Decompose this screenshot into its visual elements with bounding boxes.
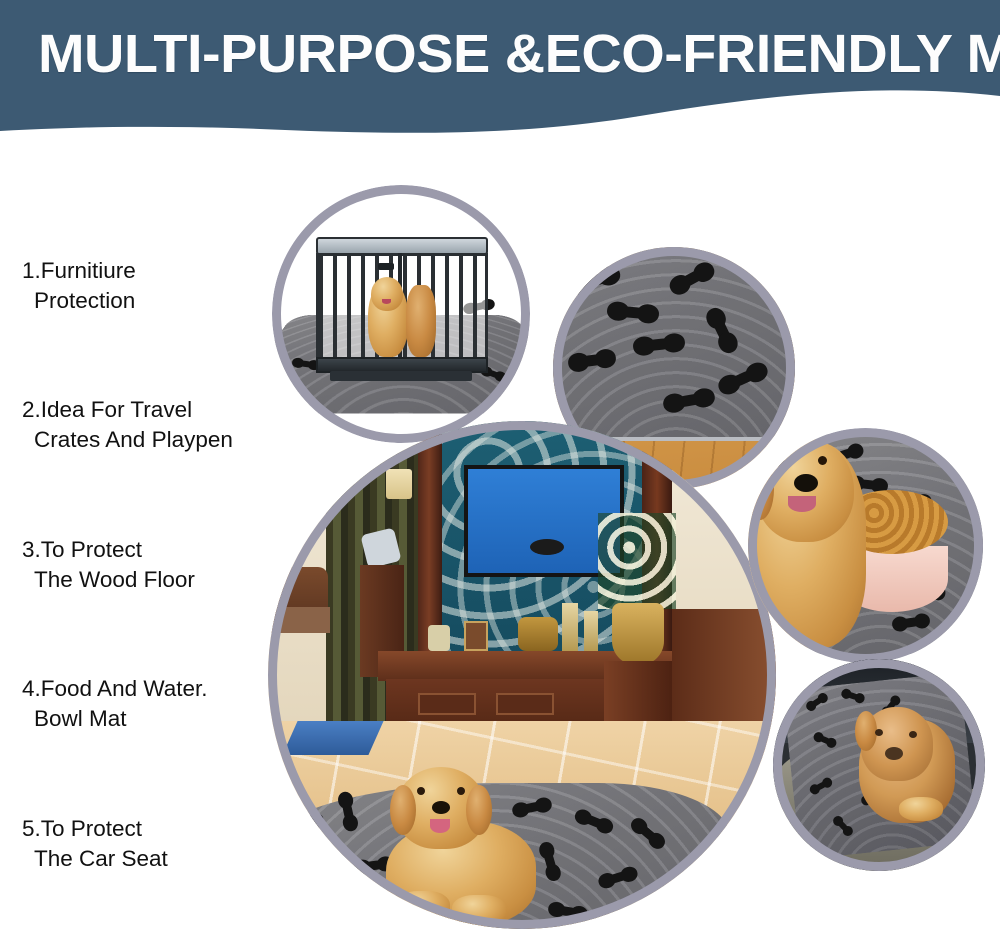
retriever-eye: [457, 787, 465, 795]
feature-3-line2: The Wood Floor: [22, 565, 290, 595]
feature-item-3: 3.To Protect The Wood Floor: [22, 535, 290, 595]
crate-dog-tongue: [382, 299, 391, 304]
retriever-eye: [417, 787, 425, 795]
feature-4-line2: Bowl Mat: [22, 704, 290, 734]
gold-vase: [612, 603, 664, 665]
living-room-canvas: [268, 421, 776, 929]
blue-rug: [282, 721, 383, 755]
feature-item-4: 4.Food And Water. Bowl Mat: [22, 674, 290, 734]
bone-shape: [360, 859, 389, 872]
bowl-dog-eye: [818, 456, 827, 465]
photo-crate: [272, 185, 530, 443]
retriever-paw: [396, 891, 450, 925]
console-bowl: [518, 617, 558, 651]
photo-collage: [258, 185, 1000, 946]
photo-car-seat: [773, 659, 985, 871]
feature-5-line1: 5.To Protect: [22, 816, 142, 841]
puppy-nose: [885, 747, 903, 760]
feature-item-5: 5.To Protect The Car Seat: [22, 814, 290, 874]
console-drawer: [496, 693, 554, 715]
feature-2-line2: Crates And Playpen: [22, 425, 290, 455]
wall-lamp: [386, 469, 412, 499]
feature-item-2: 2.Idea For Travel Crates And Playpen: [22, 395, 290, 455]
retriever-nose: [432, 801, 450, 814]
bone-shape: [615, 305, 652, 319]
puppy-paw: [899, 797, 943, 821]
candle: [584, 611, 598, 651]
retriever-ear: [390, 785, 416, 835]
header-banner: MULTI-PURPOSE &ECO-FRIENDLY MAT: [0, 0, 1000, 135]
feature-1-line1: 1.Furnitiure: [22, 258, 136, 283]
puppy-eye: [875, 729, 883, 736]
feature-1-line2: Protection: [22, 286, 290, 316]
photo-living-room: [268, 421, 776, 929]
tv-reflection: [530, 539, 564, 555]
bowl-dog-nose: [794, 474, 818, 492]
feature-5-line2: The Car Seat: [22, 844, 290, 874]
bowl-dog-eye: [776, 458, 785, 467]
armchair-seat: [268, 607, 330, 633]
photo-food-bowl: [748, 428, 983, 663]
console-drawer: [418, 693, 476, 715]
bone-shape: [574, 353, 609, 369]
feature-4-line1: 4.Food And Water.: [22, 676, 208, 701]
feature-3-line1: 3.To Protect: [22, 537, 142, 562]
product-infographic: MULTI-PURPOSE &ECO-FRIENDLY MAT 1.Furnit…: [0, 0, 1000, 946]
crate-tray: [330, 371, 472, 381]
console-clock: [428, 625, 450, 651]
retriever-ear: [466, 785, 492, 835]
candle: [562, 603, 578, 651]
crate-dog-rear: [406, 285, 436, 357]
crate-dog-head: [371, 277, 403, 311]
crate-latch: [378, 263, 394, 270]
feature-2-line1: 2.Idea For Travel: [22, 397, 192, 422]
car-seat-canvas: [773, 659, 985, 871]
bone-shape: [898, 616, 925, 629]
puppy-ear: [855, 711, 877, 751]
flower-arrangement: [598, 513, 676, 609]
puppy-eye: [909, 731, 917, 738]
page-title: MULTI-PURPOSE &ECO-FRIENDLY MAT: [38, 22, 1000, 86]
bone-shape: [641, 337, 678, 352]
feature-item-1: 1.Furnitiure Protection: [22, 256, 290, 316]
bowl-dog-tongue: [788, 496, 816, 512]
food-bowl-canvas: [748, 428, 983, 663]
bone-shape: [296, 360, 317, 369]
console-frame: [464, 621, 488, 651]
retriever-tongue: [430, 819, 450, 833]
retriever-paw: [452, 895, 506, 927]
crate-photo-canvas: [272, 185, 530, 443]
